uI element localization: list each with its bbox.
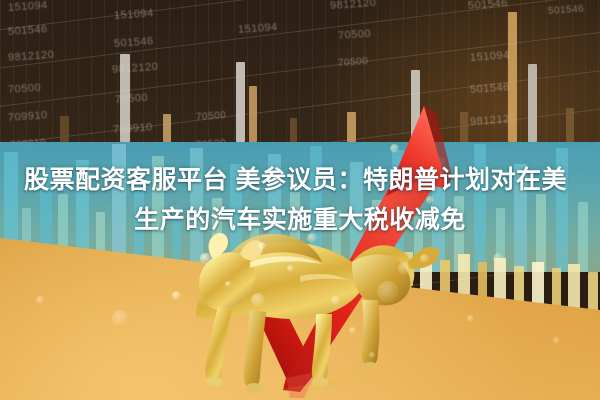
bokeh-dot	[369, 352, 375, 358]
bokeh-dot	[287, 265, 294, 272]
bokeh-dot	[390, 144, 399, 153]
bokeh-dot	[553, 337, 560, 344]
bokeh-dot	[467, 315, 474, 322]
bokeh-dot	[112, 310, 128, 326]
bokeh-dot	[377, 281, 399, 303]
bokeh-dot	[172, 291, 181, 300]
bokeh-dot	[36, 296, 44, 304]
bokeh-dot	[307, 233, 317, 243]
bokeh-dot	[258, 242, 266, 250]
bokeh-dot	[493, 253, 503, 263]
bokeh-dot	[420, 254, 429, 263]
bokeh-dot	[426, 196, 434, 204]
bokeh-dot	[200, 253, 211, 264]
bokeh-dot	[398, 262, 411, 275]
bokeh-light-layer	[0, 0, 600, 400]
bokeh-dot	[331, 296, 340, 305]
bokeh-dot	[349, 327, 356, 334]
bokeh-dot	[251, 293, 265, 307]
bokeh-dot	[225, 281, 231, 287]
news-banner: 1510945015469812120705007099107099101510…	[0, 0, 600, 400]
